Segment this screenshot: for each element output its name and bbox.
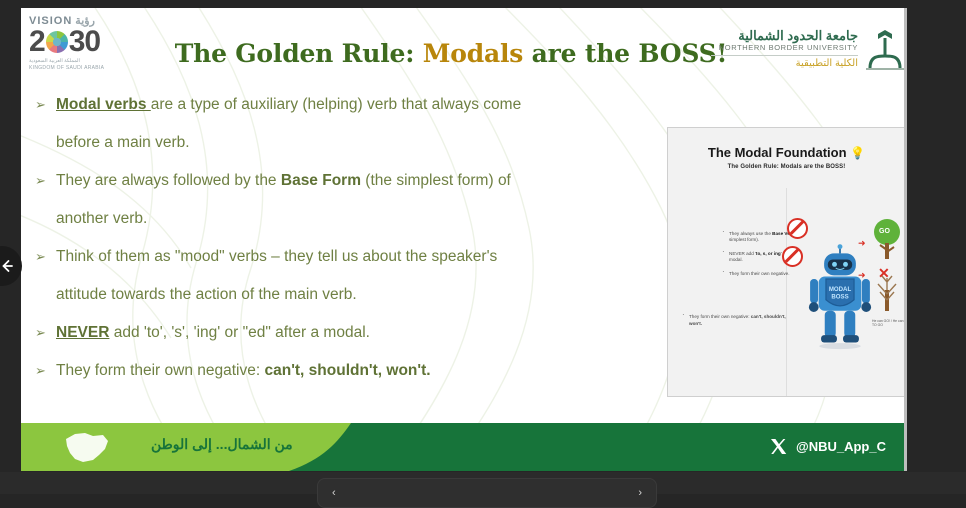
nbu-college-arabic: الكلية التطبيقية bbox=[711, 58, 858, 70]
title-accent: Modals bbox=[423, 39, 523, 68]
vision-sub-arabic: المملكة العربية السعودية bbox=[29, 58, 129, 64]
bullet-item: ➢ They are always followed by the Base F… bbox=[35, 162, 675, 200]
nbu-emblem-icon bbox=[864, 26, 904, 72]
svg-text:MODAL: MODAL bbox=[829, 286, 852, 293]
slide-canvas: VISION رؤية 230 المملكة العربية السعودية… bbox=[21, 8, 904, 471]
bullet-text: Modal verbs are a type of auxiliary (hel… bbox=[56, 86, 521, 124]
nbu-english-name: NORTHERN BORDER UNIVERSITY bbox=[711, 43, 858, 53]
arrow-down-right-icon: ➜ bbox=[858, 270, 866, 281]
bullet-lead: They are always followed by the bbox=[56, 172, 281, 189]
go-label: GO bbox=[879, 228, 890, 235]
saudi-map-icon bbox=[63, 429, 111, 465]
vision-year: 230 bbox=[29, 27, 129, 57]
slide-title: The Golden Rule: Modals are the BOSS! bbox=[171, 39, 731, 68]
bullet-rest: add 'to', 's', 'ing' or "ed" after a mod… bbox=[109, 324, 370, 341]
bullet-continuation: another verb. bbox=[35, 200, 675, 238]
lightbulb-icon: 💡 bbox=[850, 146, 865, 160]
previous-slide-button[interactable] bbox=[0, 246, 22, 286]
modal-boss-illustration: MODAL BOSS ➜ ➜ bbox=[786, 216, 904, 391]
nbu-logo: جامعة الحدود الشمالية NORTHERN BORDER UN… bbox=[711, 26, 904, 78]
social-handle-text[interactable]: @NBU_App_C bbox=[796, 439, 886, 454]
bullet-continuation: attitude towards the action of the main … bbox=[35, 276, 675, 314]
bullet-emphasis: can't, shouldn't, won't. bbox=[265, 362, 431, 379]
slide-right-edge bbox=[904, 8, 907, 471]
red-x-icon: ✕ bbox=[878, 266, 890, 280]
title-prefix: The Golden Rule: bbox=[175, 39, 423, 68]
nbu-divider bbox=[711, 55, 858, 56]
bullet-continuation: before a main verb. bbox=[35, 124, 675, 162]
bullet-emphasis: NEVER bbox=[56, 324, 109, 341]
bullet-arrow-icon: ➢ bbox=[35, 352, 47, 390]
bullet-item: ➢ NEVER add 'to', 's', 'ing' or "ed" aft… bbox=[35, 314, 675, 352]
vision-burst-icon bbox=[46, 31, 68, 53]
bullet-arrow-icon: ➢ bbox=[35, 86, 47, 124]
x-logo-icon[interactable] bbox=[769, 437, 788, 456]
title-suffix: are the BOSS! bbox=[523, 39, 727, 68]
viewer-bottom-bar: ‹ › bbox=[0, 472, 966, 494]
bullet-arrow-icon: ➢ bbox=[35, 314, 47, 352]
arrow-up-right-icon: ➜ bbox=[858, 238, 866, 249]
bullet-emphasis: Modal verbs bbox=[56, 96, 151, 113]
bullet-text: NEVER add 'to', 's', 'ing' or "ed" after… bbox=[56, 314, 370, 352]
bullet-rest: (the simplest form) of bbox=[361, 172, 511, 189]
bullet-arrow-icon: ➢ bbox=[35, 162, 47, 200]
inset-bottom-point-list: They form their own negative: can't, sho… bbox=[682, 314, 792, 327]
nbu-logo-text: جامعة الحدود الشمالية NORTHERN BORDER UN… bbox=[711, 26, 858, 70]
bullet-item: ➢ They form their own negative: can't, s… bbox=[35, 352, 675, 390]
footer-slogan: من الشمال... إلى الوطن bbox=[151, 436, 293, 453]
arrow-left-icon[interactable] bbox=[0, 258, 15, 274]
inset-slide-image: The Modal Foundation 💡 The Golden Rule: … bbox=[667, 127, 904, 397]
slide-controls[interactable]: ‹ › bbox=[317, 478, 657, 508]
vision-2030-logo: VISION رؤية 230 المملكة العربية السعودية… bbox=[29, 14, 129, 72]
control-prev-arrow[interactable]: ‹ bbox=[332, 487, 336, 499]
bullet-text: They form their own negative: can't, sho… bbox=[56, 352, 431, 390]
bullet-text: They are always followed by the Base For… bbox=[56, 162, 511, 200]
no-ing-icon bbox=[782, 246, 803, 267]
inset-title-text: The Modal Foundation bbox=[708, 145, 847, 160]
bullet-item: ➢ Modal verbs are a type of auxiliary (h… bbox=[35, 86, 675, 124]
bullet-rest: are a type of auxiliary (helping) verb t… bbox=[151, 96, 521, 113]
svg-text:BOSS: BOSS bbox=[831, 294, 848, 301]
footer-curve-shape bbox=[289, 423, 419, 471]
nbu-arabic-name: جامعة الحدود الشمالية bbox=[711, 28, 858, 43]
bullet-arrow-icon: ➢ bbox=[35, 238, 47, 276]
green-tree-icon bbox=[870, 218, 904, 262]
bullet-lead: They form their own negative: bbox=[56, 362, 265, 379]
presentation-viewer: VISION رؤية 230 المملكة العربية السعودية… bbox=[0, 0, 966, 494]
bullet-item: ➢ Think of them as "mood" verbs – they t… bbox=[35, 238, 675, 276]
inset-point: They form their own negative: can't, sho… bbox=[682, 314, 792, 327]
vision-sub-english: KINGDOM OF SAUDI ARABIA bbox=[29, 65, 129, 71]
inset-subtitle: The Golden Rule: Modals are the BOSS! bbox=[668, 164, 904, 170]
bullet-emphasis: Base Form bbox=[281, 172, 361, 189]
social-handle[interactable]: @NBU_App_C bbox=[769, 437, 886, 456]
inset-title: The Modal Foundation 💡 bbox=[668, 145, 904, 160]
control-next-arrow[interactable]: › bbox=[638, 487, 642, 499]
bullet-list: ➢ Modal verbs are a type of auxiliary (h… bbox=[35, 86, 675, 390]
bullet-text: Think of them as "mood" verbs – they tel… bbox=[56, 238, 497, 276]
slide-footer: من الشمال... إلى الوطن @NBU_App_C bbox=[21, 423, 904, 471]
inset-caption: He can GO! / He can TO GO bbox=[872, 319, 904, 328]
